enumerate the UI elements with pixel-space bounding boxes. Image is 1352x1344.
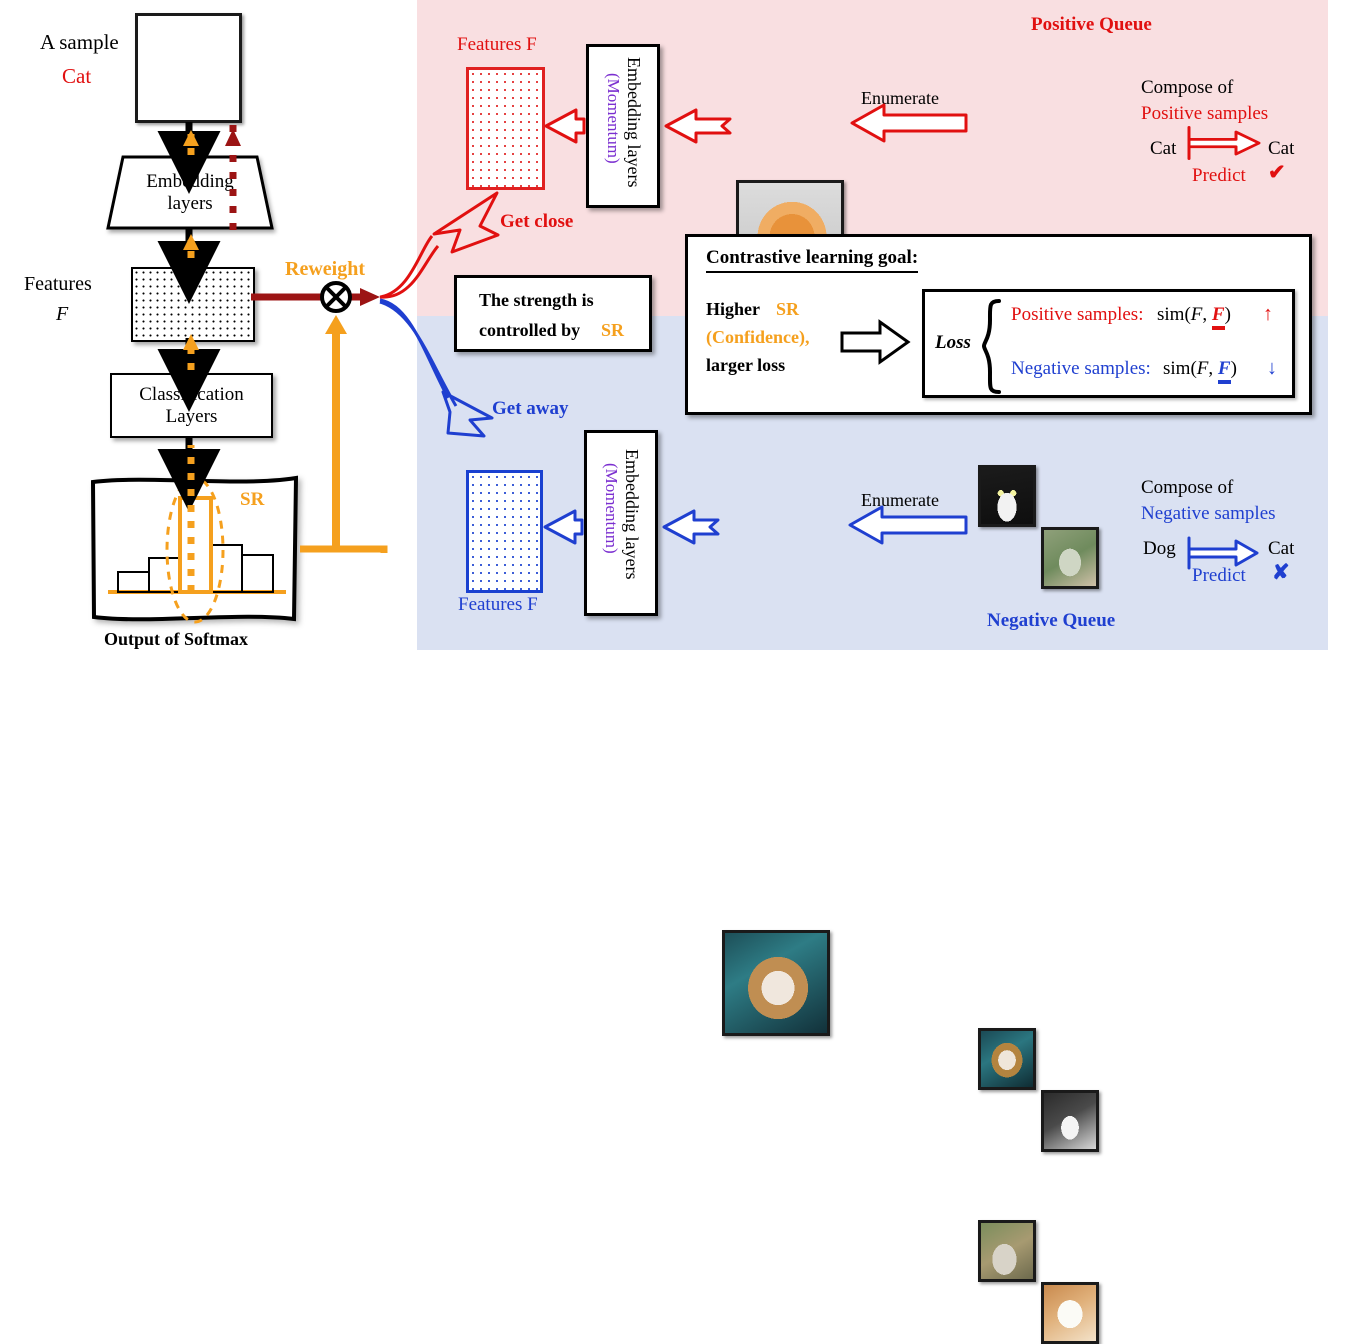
negative-dst-class: Cat bbox=[1268, 538, 1294, 560]
goal-left-line2: (Confidence), bbox=[706, 327, 809, 348]
positive-samples-row-expr: sim(F, F) bbox=[1157, 304, 1231, 326]
goal-left-line1b: SR bbox=[776, 299, 799, 320]
strength-box: The strength is controlled by SR bbox=[454, 275, 652, 352]
positive-dst-class: Cat bbox=[1268, 138, 1294, 160]
goal-left-line1a: Higher bbox=[706, 299, 760, 320]
goal-left-line3: larger loss bbox=[706, 355, 785, 376]
positive-queue-title: Positive Queue bbox=[1031, 14, 1152, 36]
positive-embedding-label: Embedding layers bbox=[623, 57, 644, 187]
features-symbol: F bbox=[56, 303, 68, 326]
reweight-label: Reweight bbox=[285, 258, 365, 281]
strength-highlight: SR bbox=[601, 320, 624, 341]
positive-features-box bbox=[466, 67, 545, 190]
positive-compose-line1: Compose of bbox=[1141, 77, 1233, 99]
goal-block-arrow-icon bbox=[840, 319, 912, 365]
input-sample-image bbox=[135, 13, 242, 123]
negative-embedding-box: Embedding layers (Momentum) bbox=[584, 430, 658, 616]
positive-embedding-sublabel: (Momentum) bbox=[603, 73, 623, 164]
positive-queue-thumb-3 bbox=[978, 465, 1036, 527]
negative-predict-label: Predict bbox=[1192, 565, 1246, 587]
negative-queue-thumb-3 bbox=[978, 1220, 1036, 1282]
features-label: Features bbox=[24, 273, 92, 296]
diagram-canvas: A sample Cat Embedding layers Features F… bbox=[0, 0, 1352, 676]
negative-embedding-sublabel: (Momentum) bbox=[601, 463, 621, 554]
loss-brace-icon bbox=[981, 298, 1003, 395]
positive-predict-mark: ✔ bbox=[1268, 160, 1286, 185]
negative-queue-title: Negative Queue bbox=[987, 610, 1115, 632]
classification-layers-box: Classification Layers bbox=[110, 373, 273, 438]
negative-queue-thumb-4 bbox=[1041, 1282, 1099, 1344]
negative-samples-row-expr: sim(F, F) bbox=[1163, 358, 1237, 380]
negative-predict-mark: ✘ bbox=[1272, 560, 1290, 585]
positive-compose-line2: Positive samples bbox=[1141, 103, 1268, 125]
negative-samples-arrow: ↓ bbox=[1267, 357, 1277, 380]
softmax-output-panel: SR bbox=[90, 473, 300, 625]
contrastive-goal-box: Contrastive learning goal: Higher SR (Co… bbox=[685, 234, 1312, 415]
negative-embedding-label: Embedding layers bbox=[621, 449, 642, 579]
get-away-label: Get away bbox=[492, 398, 569, 420]
negative-compose-line2: Negative samples bbox=[1141, 503, 1276, 525]
sr-annotation: SR bbox=[240, 489, 264, 511]
negative-compose-line1: Compose of bbox=[1141, 477, 1233, 499]
positive-samples-row-label: Positive samples: bbox=[1011, 304, 1143, 326]
strength-line2: controlled by bbox=[479, 320, 580, 341]
negative-queue-thumb-1 bbox=[978, 1028, 1036, 1090]
negative-features-box bbox=[466, 470, 543, 593]
positive-queue-thumb-4 bbox=[1041, 527, 1099, 589]
negative-src-class: Dog bbox=[1143, 538, 1176, 560]
loss-label: Loss bbox=[935, 332, 971, 354]
embedding-layers-label: Embedding layers bbox=[130, 171, 250, 215]
strength-line1: The strength is bbox=[479, 290, 594, 311]
classification-layers-label: Classification Layers bbox=[132, 384, 252, 428]
negative-query-image bbox=[722, 930, 830, 1036]
embedding-layers-box: Embedding layers bbox=[106, 155, 274, 230]
goal-title: Contrastive learning goal: bbox=[706, 247, 918, 273]
softmax-caption: Output of Softmax bbox=[104, 629, 248, 650]
negative-queue-thumb-2 bbox=[1041, 1090, 1099, 1152]
sample-label: A sample bbox=[40, 30, 119, 55]
negative-samples-row-label: Negative samples: bbox=[1011, 358, 1151, 380]
positive-embedding-box: Embedding layers (Momentum) bbox=[586, 44, 660, 208]
get-close-label: Get close bbox=[500, 211, 573, 233]
features-box bbox=[131, 267, 255, 342]
sample-class-label: Cat bbox=[62, 64, 91, 89]
positive-enumerate-label: Enumerate bbox=[861, 88, 939, 109]
negative-enumerate-label: Enumerate bbox=[861, 490, 939, 511]
positive-samples-arrow: ↑ bbox=[1263, 303, 1273, 326]
positive-features-label: Features F bbox=[457, 34, 537, 56]
positive-src-class: Cat bbox=[1150, 138, 1176, 160]
negative-features-label: Features F bbox=[458, 594, 538, 616]
positive-predict-label: Predict bbox=[1192, 165, 1246, 187]
loss-definition-box: Loss Positive samples: sim(F, F) ↑ Negat… bbox=[922, 289, 1295, 398]
